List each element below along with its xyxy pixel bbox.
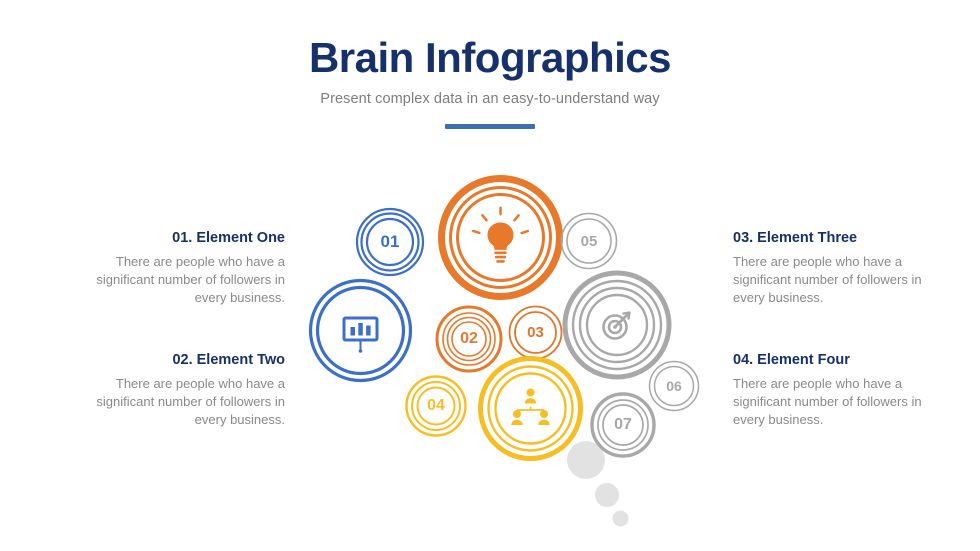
slide-header: Brain Infographics Present complex data … (0, 36, 980, 129)
element-three-body: There are people who have a significant … (733, 253, 928, 307)
element-four-body: There are people who have a significant … (733, 375, 928, 429)
element-one-heading: 01. Element One (70, 230, 285, 246)
icon-node-team[interactable] (478, 356, 583, 461)
element-four-heading: 04. Element Four (733, 352, 928, 368)
team-hierarchy-icon (511, 389, 549, 426)
brain-circle-cluster: 01 (300, 170, 700, 540)
lightbulb-icon (472, 207, 530, 263)
bar-chart-board-icon (344, 318, 377, 353)
text-block-element-four: 04. Element Four There are people who ha… (733, 352, 928, 429)
element-two-heading: 02. Element Two (70, 352, 285, 368)
text-block-element-three: 03. Element Three There are people who h… (733, 230, 928, 307)
target-arrow-icon (604, 313, 630, 339)
slide-canvas: Brain Infographics Present complex data … (0, 0, 980, 551)
bubble-small (612, 510, 629, 527)
icon-node-report[interactable] (308, 278, 413, 383)
bubble-medium (594, 482, 620, 508)
text-block-element-two: 02. Element Two There are people who hav… (70, 352, 285, 429)
element-three-heading: 03. Element Three (733, 230, 928, 246)
number-node-07[interactable]: 07 (590, 392, 656, 458)
icon-node-idea[interactable] (438, 175, 563, 300)
number-node-03[interactable]: 03 (508, 305, 563, 360)
element-two-body: There are people who have a significant … (70, 375, 285, 429)
number-node-05[interactable]: 05 (560, 212, 618, 270)
text-block-element-one: 01. Element One There are people who hav… (70, 230, 285, 307)
title-divider (445, 124, 535, 129)
number-node-04[interactable]: 04 (405, 375, 467, 437)
page-subtitle: Present complex data in an easy-to-under… (0, 91, 980, 107)
page-title: Brain Infographics (0, 36, 980, 80)
element-one-body: There are people who have a significant … (70, 253, 285, 307)
number-node-01[interactable]: 01 (355, 207, 425, 277)
